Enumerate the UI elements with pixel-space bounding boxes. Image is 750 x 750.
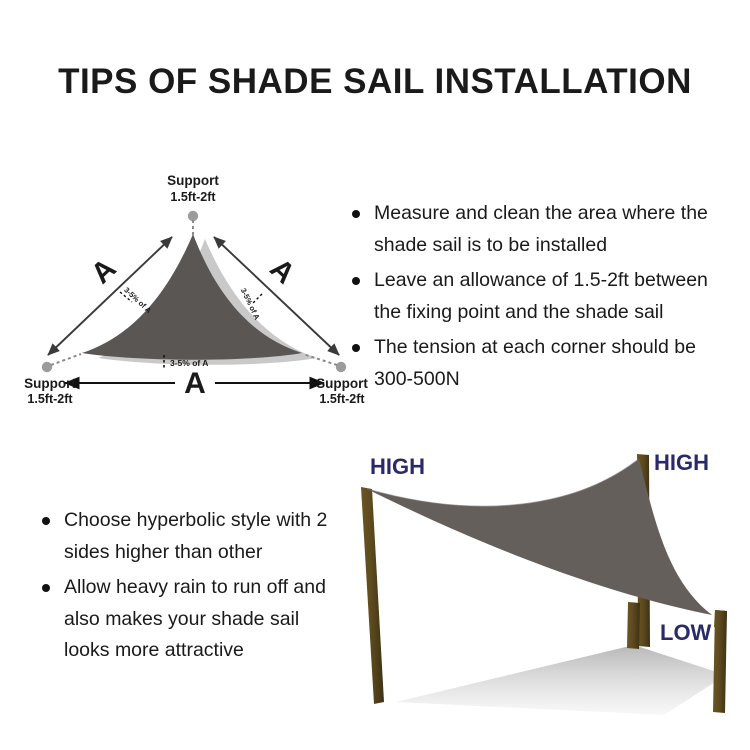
ground-shadow	[396, 645, 726, 715]
list-item: Allow heavy rain to run off and also mak…	[38, 572, 346, 667]
support-point-bottom-left	[42, 362, 52, 372]
sail-label-right-high: HIGH	[654, 450, 709, 475]
support-connector-bottom-left	[51, 354, 81, 365]
support-label-bottom-left: Support	[24, 376, 76, 391]
list-item: The tension at each corner should be 300…	[348, 332, 732, 395]
tips-infographic-page: TIPS OF SHADE SAIL INSTALLATION	[0, 0, 750, 750]
triangle-sail-diagram: Support 1.5ft-2ft Support 1.5ft-2ft Supp…	[12, 112, 402, 417]
support-connector-bottom-right	[303, 354, 337, 365]
post-front-right-tip	[714, 610, 727, 628]
post-back-left	[361, 487, 384, 704]
dimension-label-right-edge: A	[264, 253, 301, 291]
support-point-top	[188, 211, 198, 221]
triangle-sail-body	[82, 234, 302, 360]
hyperbolic-sail-illustration: HIGH HIGH LOW	[334, 432, 750, 750]
list-item: Choose hyperbolic style with 2 sides hig…	[38, 505, 346, 568]
tips-list-bottom: Choose hyperbolic style with 2 sides hig…	[38, 505, 346, 671]
sail-label-left-high: HIGH	[370, 454, 425, 479]
shade-sail-fabric	[367, 459, 712, 615]
dimension-label-bottom-edge: A	[184, 367, 206, 400]
support-sublabel-top: 1.5ft-2ft	[170, 190, 216, 204]
camber-note-left-edge: 3-5% of A	[122, 285, 153, 315]
dimension-label-left-edge: A	[85, 253, 122, 291]
support-sublabel-bottom-left: 1.5ft-2ft	[27, 392, 73, 406]
page-title: TIPS OF SHADE SAIL INSTALLATION	[0, 62, 750, 102]
support-label-top: Support	[167, 173, 219, 188]
list-item: Measure and clean the area where the sha…	[348, 198, 732, 261]
sail-label-low: LOW	[660, 620, 712, 645]
post-middle	[627, 602, 640, 649]
support-point-bottom-right	[336, 362, 346, 372]
tips-list-top: Measure and clean the area where the sha…	[348, 198, 732, 399]
list-item: Leave an allowance of 1.5-2ft between th…	[348, 265, 732, 328]
